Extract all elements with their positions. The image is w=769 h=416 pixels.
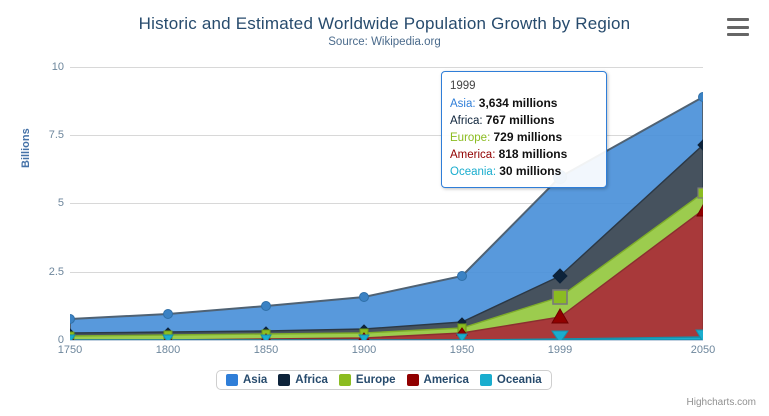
legend-item-africa[interactable]: Africa: [278, 374, 328, 386]
data-point-asia-1900[interactable]: [360, 293, 369, 302]
legend-swatch-icon: [226, 374, 238, 386]
legend-label: Oceania: [497, 374, 542, 386]
tooltip-category: 1999: [450, 78, 598, 94]
highcharts-container: Historic and Estimated Worldwide Populat…: [0, 0, 769, 416]
y-axis-tick-10: 10: [8, 61, 64, 73]
legend-label: America: [424, 374, 469, 386]
tooltip-series-value: 729 millions: [493, 130, 562, 144]
data-point-asia-1950[interactable]: [458, 272, 467, 281]
chart-legend: Asia Africa Europe America Oceania: [216, 370, 552, 390]
legend-label: Europe: [356, 374, 396, 386]
x-axis-tick-2050: 2050: [673, 344, 733, 356]
tooltip-row-america: America: 818 millions: [450, 146, 598, 163]
hamburger-bar: [727, 26, 749, 29]
tooltip-row-europe: Europe: 729 millions: [450, 129, 598, 146]
tooltip-row-asia: Asia: 3,634 millions: [450, 95, 598, 112]
x-axis-tick-1750: 1750: [40, 344, 100, 356]
data-point-europe-1999[interactable]: [553, 290, 567, 304]
x-axis-tick-1800: 1800: [138, 344, 198, 356]
tooltip-series-value: 818 millions: [499, 147, 568, 161]
tooltip-series-value: 767 millions: [486, 113, 555, 127]
legend-item-oceania[interactable]: Oceania: [480, 374, 542, 386]
legend-label: Asia: [243, 374, 267, 386]
highcharts-credit-link[interactable]: Highcharts.com: [687, 397, 756, 408]
y-axis-tick-7.5: 7.5: [8, 129, 64, 141]
data-point-asia-1800[interactable]: [164, 310, 173, 319]
hamburger-menu-icon[interactable]: [727, 18, 749, 36]
tooltip-series-name: Asia: [450, 98, 472, 110]
legend-swatch-icon: [278, 374, 290, 386]
legend-swatch-icon: [480, 374, 492, 386]
tooltip-series-name: Oceania: [450, 166, 493, 178]
x-axis-tick-1999: 1999: [530, 344, 590, 356]
hamburger-bar: [727, 33, 749, 36]
hamburger-bar: [727, 18, 749, 21]
y-axis-tick-2.5: 2.5: [8, 266, 64, 278]
series-plot: [70, 67, 703, 341]
x-axis-tick-1900: 1900: [334, 344, 394, 356]
data-point-asia-2050[interactable]: [699, 93, 704, 102]
legend-swatch-icon: [339, 374, 351, 386]
tooltip-row-africa: Africa: 767 millions: [450, 112, 598, 129]
legend-item-europe[interactable]: Europe: [339, 374, 396, 386]
legend-item-asia[interactable]: Asia: [226, 374, 267, 386]
x-axis-tick-1950: 1950: [432, 344, 492, 356]
data-point-europe-2050[interactable]: [698, 188, 703, 198]
tooltip-series-value: 3,634 millions: [479, 96, 558, 110]
x-axis-line: [70, 340, 703, 341]
tooltip-series-name: Europe: [450, 132, 487, 144]
plot-area: [70, 67, 703, 340]
chart-title: Historic and Estimated Worldwide Populat…: [0, 14, 769, 34]
chart-subtitle: Source: Wikipedia.org: [0, 36, 769, 48]
x-axis-tick-1850: 1850: [236, 344, 296, 356]
y-axis-tick-5: 5: [8, 197, 64, 209]
data-point-asia-1850[interactable]: [262, 302, 271, 311]
data-point-asia-1750[interactable]: [70, 315, 75, 324]
legend-label: Africa: [295, 374, 328, 386]
tooltip-series-value: 30 millions: [499, 164, 561, 178]
chart-tooltip: 1999 Asia: 3,634 millions Africa: 767 mi…: [441, 71, 607, 188]
legend-swatch-icon: [407, 374, 419, 386]
tooltip-row-oceania: Oceania: 30 millions: [450, 163, 598, 180]
legend-item-america[interactable]: America: [407, 374, 469, 386]
tooltip-series-name: Africa: [450, 115, 479, 127]
tooltip-series-name: America: [450, 149, 492, 161]
